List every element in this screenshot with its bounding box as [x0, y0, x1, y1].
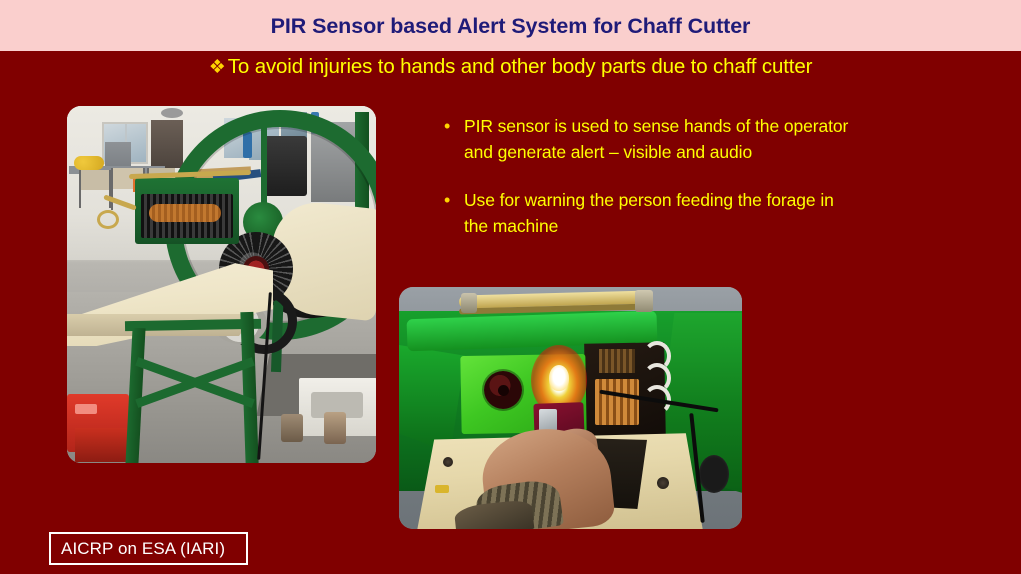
footer-tag-box: AICRP on ESA (IARI): [49, 532, 248, 565]
bullet-line: Use for warning the person feeding the f…: [464, 187, 920, 213]
bullet-dot-icon: •: [438, 187, 464, 214]
page-title: PIR Sensor based Alert System for Chaff …: [271, 14, 751, 39]
list-item: • PIR sensor is used to sense hands of t…: [438, 113, 920, 165]
slide-header-band: PIR Sensor based Alert System for Chaff …: [0, 0, 1021, 51]
footer-tag-label: AICRP on ESA (IARI): [51, 539, 225, 559]
bullet-text: Use for warning the person feeding the f…: [464, 187, 920, 239]
bullet-line: PIR sensor is used to sense hands of the…: [464, 113, 920, 139]
photo-pir-sensor-alert-in-use: [399, 287, 742, 529]
slide-subtitle: ❖ To avoid injuries to hands and other b…: [0, 55, 1021, 79]
bullet-dot-icon: •: [438, 113, 464, 140]
subtitle-text: To avoid injuries to hands and other bod…: [228, 55, 812, 79]
list-item: • Use for warning the person feeding the…: [438, 187, 920, 239]
content-bullet-list: • PIR sensor is used to sense hands of t…: [438, 113, 920, 261]
bullet-line: the machine: [464, 213, 920, 239]
bullet-line: and generate alert – visible and audio: [464, 139, 920, 165]
bullet-text: PIR sensor is used to sense hands of the…: [464, 113, 920, 165]
photo-chaff-cutter-machine: [67, 106, 376, 463]
presentation-slide: PIR Sensor based Alert System for Chaff …: [0, 0, 1021, 574]
diamond-bullet-icon: ❖: [209, 58, 226, 77]
